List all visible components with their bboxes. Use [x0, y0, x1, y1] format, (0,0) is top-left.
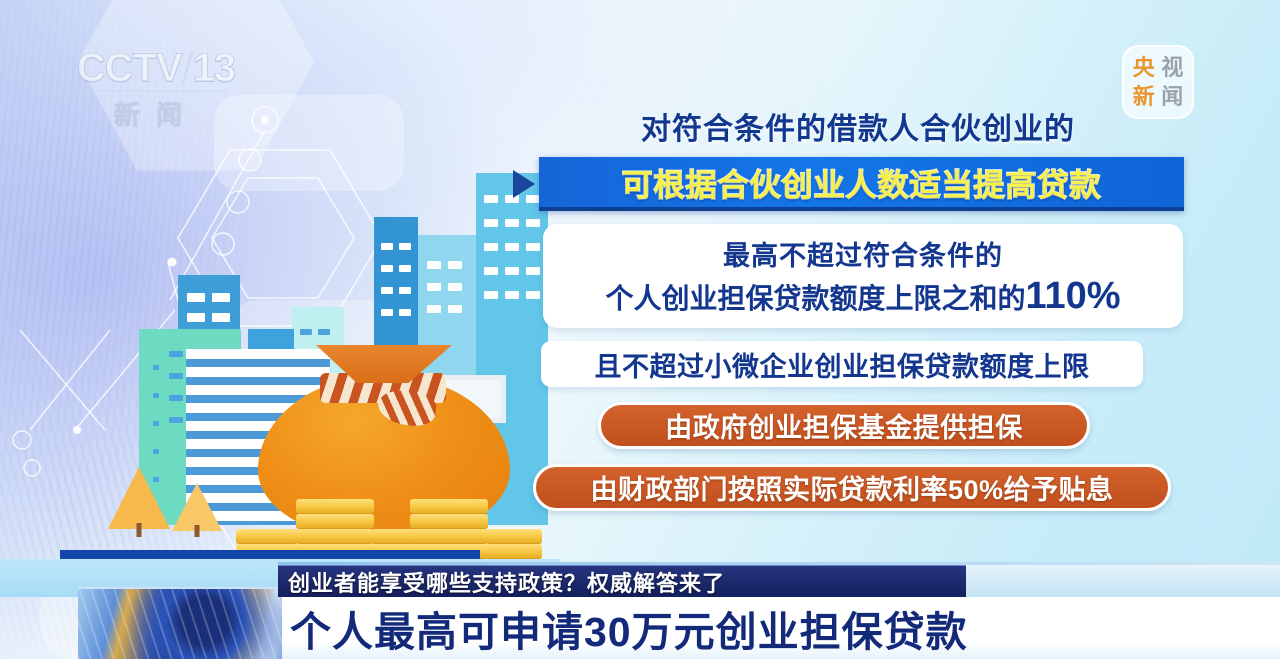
lower-third-headline-text: 个人最高可申请30万元创业担保贷款: [290, 598, 968, 658]
limit-card-line2: 个人创业担保贷款额度上限之和的110%: [605, 275, 1120, 318]
lead-statement: 对符合条件的借款人合伙创业的: [538, 104, 1178, 148]
infographic-panel: 对符合条件的借款人合伙创业的 可根据合伙创业人数适当提高贷款 最高不超过符合条件…: [0, 0, 1280, 560]
guarantee-fund-pill: 由政府创业担保基金提供担保: [598, 402, 1090, 449]
broadcast-frame: CCTV 13 新闻 央 视 新 闻 对符合条件的借款人合伙创业的 可根据合伙创…: [0, 0, 1280, 659]
interest-subsidy-text: 由财政部门按照实际贷款利率50%给予贴息: [590, 468, 1113, 507]
lower-third-thumbnail: [78, 587, 282, 659]
interest-subsidy-pill: 由财政部门按照实际贷款利率50%给予贴息: [533, 464, 1171, 511]
lower-third-banner: 创业者能享受哪些支持政策？权威解答来了 个人最高可申请30万元创业担保贷款: [0, 563, 1280, 659]
cap-card: 且不超过小微企业创业担保贷款额度上限: [541, 341, 1143, 387]
pointer-triangle-icon: [513, 170, 535, 198]
lower-third-headline: 个人最高可申请30万元创业担保贷款: [282, 597, 1280, 659]
lower-third-subtitle: 创业者能享受哪些支持政策？权威解答来了: [278, 565, 966, 597]
lower-third-subtitle-text: 创业者能享受哪些支持政策？权威解答来了: [288, 566, 725, 598]
guarantee-fund-text: 由政府创业担保基金提供担保: [665, 406, 1023, 445]
highlight-bar-text: 可根据合伙创业人数适当提高贷款: [622, 160, 1102, 205]
lower-third-subtitle-tail: [966, 565, 1280, 597]
cap-card-text: 且不超过小微企业创业担保贷款额度上限: [595, 345, 1090, 384]
limit-card-line1: 最高不超过符合条件的: [723, 234, 1003, 273]
limit-card-line2-prefix: 个人创业担保贷款额度上限之和的: [605, 283, 1025, 314]
limit-card-percent: 110%: [1025, 275, 1120, 317]
thumbnail-swirl: [78, 589, 282, 659]
highlight-bar: 可根据合伙创业人数适当提高贷款: [539, 157, 1184, 211]
limit-card: 最高不超过符合条件的 个人创业担保贷款额度上限之和的110%: [543, 224, 1183, 328]
